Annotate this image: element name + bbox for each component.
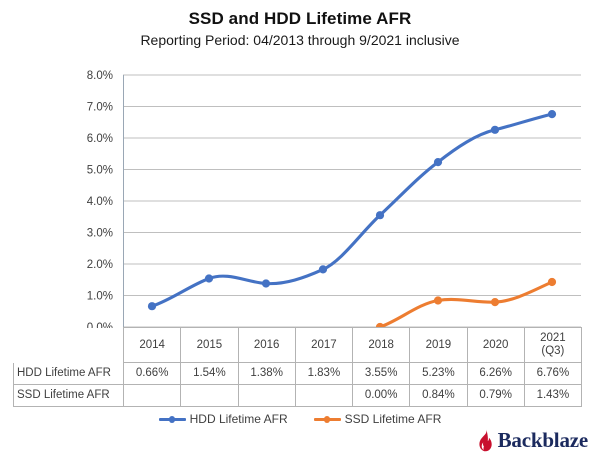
table-cell: 6.26% — [467, 363, 524, 385]
table-col-header: 2020 — [467, 328, 524, 363]
horizontal-gridlines — [123, 75, 581, 327]
y-tick-label: 8.0% — [87, 70, 113, 82]
legend-label: HDD Lifetime AFR — [190, 412, 288, 426]
table-col-header: 2014 — [124, 328, 181, 363]
chart-legend: HDD Lifetime AFR SSD Lifetime AFR — [0, 412, 600, 426]
y-axis-tick-labels: 8.0% 7.0% 6.0% 5.0% 4.0% 3.0% 2.0% 1.0% … — [87, 70, 113, 334]
table-cell — [181, 385, 238, 407]
table-col-header: 2018 — [353, 328, 410, 363]
table-cell: 1.83% — [295, 363, 352, 385]
series-markers-hdd — [148, 110, 556, 310]
data-table: 2014 2015 2016 2017 2018 2019 2020 2021 … — [13, 327, 582, 407]
chart-card: SSD and HDD Lifetime AFR Reporting Perio… — [0, 0, 600, 462]
data-point — [205, 274, 213, 282]
table-cell: 1.43% — [524, 385, 581, 407]
y-tick-label: 6.0% — [87, 133, 113, 145]
chart-title: SSD and HDD Lifetime AFR — [0, 8, 600, 29]
table-cell — [238, 385, 295, 407]
table-cell: 0.84% — [410, 385, 467, 407]
table-cell: 1.54% — [181, 363, 238, 385]
table-cell — [295, 385, 352, 407]
legend-line-marker-icon — [159, 413, 186, 425]
table-col-header: 2021 (Q3) — [524, 328, 581, 363]
table-cell: 0.00% — [353, 385, 410, 407]
data-point — [548, 110, 556, 118]
backblaze-wordmark: Backblaze — [498, 428, 588, 453]
legend-label: SSD Lifetime AFR — [345, 412, 442, 426]
y-tick-label: 7.0% — [87, 102, 113, 114]
data-point — [434, 296, 442, 304]
series-line-hdd — [152, 114, 552, 306]
title-block: SSD and HDD Lifetime AFR Reporting Perio… — [0, 8, 600, 50]
chart-subtitle: Reporting Period: 04/2013 through 9/2021… — [0, 31, 600, 50]
y-tick-label: 5.0% — [87, 165, 113, 177]
legend-item-hdd: HDD Lifetime AFR — [159, 412, 288, 426]
table-row-label: HDD Lifetime AFR — [14, 363, 124, 385]
data-point — [148, 302, 156, 310]
series-line-ssd — [380, 282, 552, 327]
data-point — [319, 265, 327, 273]
table-cell: 3.55% — [353, 363, 410, 385]
table-header-row: 2014 2015 2016 2017 2018 2019 2020 2021 … — [14, 328, 582, 363]
data-point — [434, 158, 442, 166]
y-tick-label: 3.0% — [87, 228, 113, 240]
data-point — [491, 298, 499, 306]
table-row: SSD Lifetime AFR 0.00% 0.84% 0.79% 1.43% — [14, 385, 582, 407]
table-cell — [124, 385, 181, 407]
table-cell: 0.79% — [467, 385, 524, 407]
table-cell: 0.66% — [124, 363, 181, 385]
y-tick-label: 4.0% — [87, 196, 113, 208]
data-point — [376, 211, 384, 219]
backblaze-logo: Backblaze — [476, 428, 588, 453]
flame-icon — [476, 429, 493, 453]
table-col-header: 2017 — [295, 328, 352, 363]
table-cell: 1.38% — [238, 363, 295, 385]
y-tick-label: 1.0% — [87, 291, 113, 303]
table-row-label: SSD Lifetime AFR — [14, 385, 124, 407]
table-col-header: 2015 — [181, 328, 238, 363]
data-point — [491, 126, 499, 134]
table-col-header: 2019 — [410, 328, 467, 363]
legend-item-ssd: SSD Lifetime AFR — [314, 412, 442, 426]
table-col-header: 2016 — [238, 328, 295, 363]
legend-line-marker-icon — [314, 413, 341, 425]
series-markers-ssd — [376, 278, 556, 331]
y-tick-label: 2.0% — [87, 259, 113, 271]
data-point — [548, 278, 556, 286]
table-row: HDD Lifetime AFR 0.66% 1.54% 1.38% 1.83%… — [14, 363, 582, 385]
table-cell: 6.76% — [524, 363, 581, 385]
data-point — [262, 279, 270, 287]
table-cell: 5.23% — [410, 363, 467, 385]
table-corner-cell — [14, 328, 124, 363]
